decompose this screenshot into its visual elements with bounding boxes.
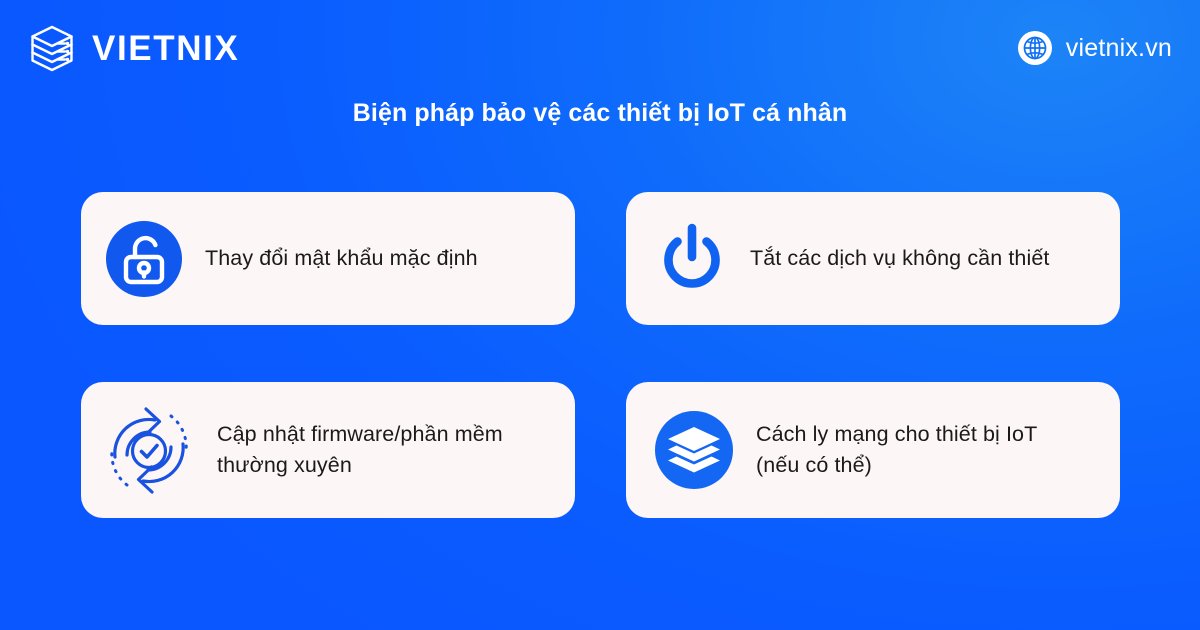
brand-logo: VIETNIX xyxy=(26,22,239,74)
globe-icon xyxy=(1017,30,1053,66)
card-change-default-password[interactable]: Thay đổi mật khẩu mặc định xyxy=(81,192,575,325)
card-label-line1: Thay đổi mật khẩu mặc định xyxy=(205,246,478,270)
site-url-label: vietnix.vn xyxy=(1066,36,1172,61)
card-label-line2: thường xuyên xyxy=(217,450,503,481)
card-grid: Thay đổi mật khẩu mặc định Tắt các dịch … xyxy=(81,192,1119,518)
card-label-line2: (nếu có thể) xyxy=(756,450,1037,481)
card-label: Cách ly mạng cho thiết bị IoT (nếu có th… xyxy=(756,419,1037,481)
card-label: Thay đổi mật khẩu mặc định xyxy=(205,243,478,274)
card-disable-unneeded-services[interactable]: Tắt các dịch vụ không cần thiết xyxy=(626,192,1120,325)
card-update-firmware[interactable]: Cập nhật firmware/phần mềm thường xuyên xyxy=(81,382,575,518)
update-refresh-check-icon xyxy=(103,401,195,499)
card-label-line1: Cách ly mạng cho thiết bị IoT xyxy=(756,422,1037,446)
card-label: Cập nhật firmware/phần mềm thường xuyên xyxy=(217,419,503,481)
page-title: Biện pháp bảo vệ các thiết bị IoT cá nhâ… xyxy=(0,96,1200,130)
stacked-layers-logo-icon xyxy=(26,22,78,74)
power-button-icon xyxy=(656,219,728,299)
poster-canvas: VIETNIX vietnix.vn Biện ph xyxy=(0,0,1200,630)
poster-header: VIETNIX vietnix.vn xyxy=(0,0,1200,96)
card-network-isolation[interactable]: Cách ly mạng cho thiết bị IoT (nếu có th… xyxy=(626,382,1120,518)
open-padlock-icon xyxy=(105,220,183,298)
card-label: Tắt các dịch vụ không cần thiết xyxy=(750,243,1050,274)
card-label-line1: Cập nhật firmware/phần mềm xyxy=(217,422,503,446)
brand-wordmark: VIETNIX xyxy=(92,31,239,66)
network-layers-icon xyxy=(654,410,734,490)
site-url-badge[interactable]: vietnix.vn xyxy=(1017,30,1172,66)
card-label-line1: Tắt các dịch vụ không cần thiết xyxy=(750,246,1050,270)
